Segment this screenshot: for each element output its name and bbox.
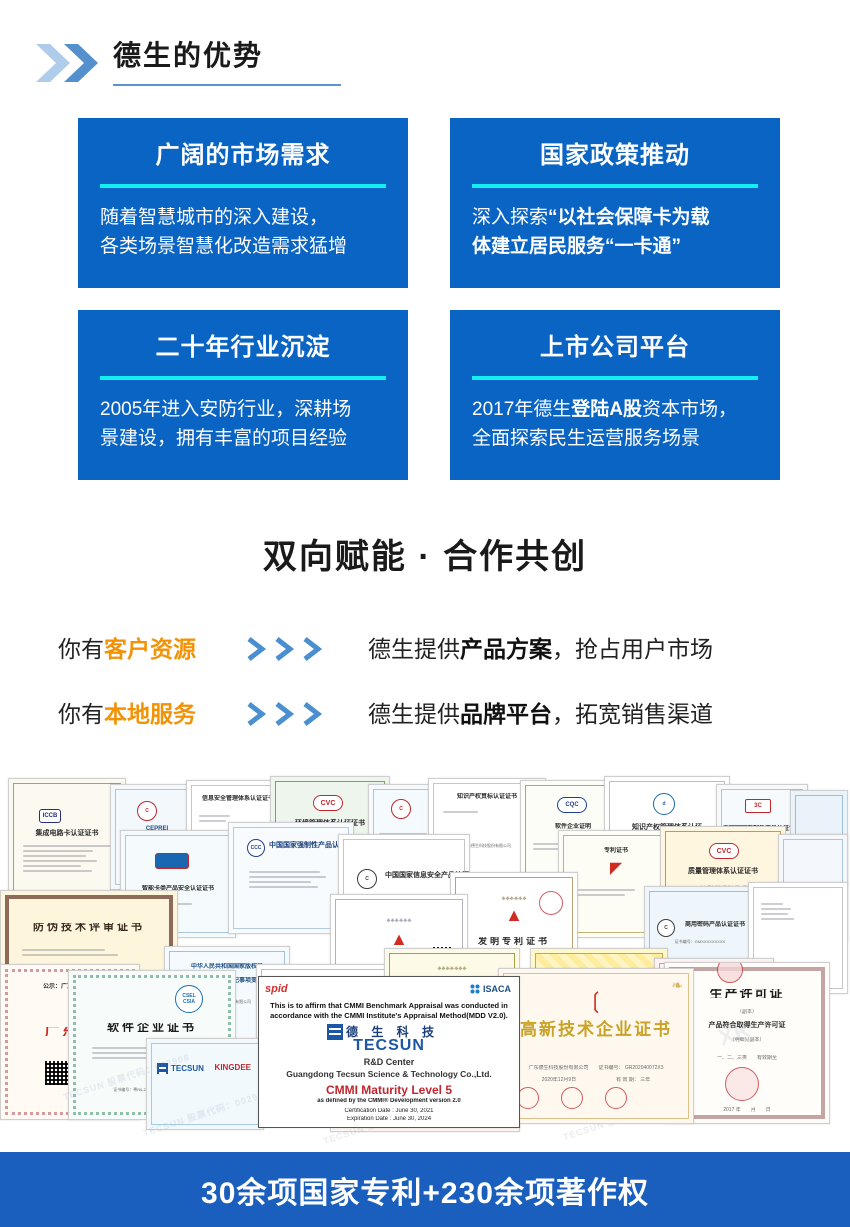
certificate-title: 质量管理体系认证证书 bbox=[661, 867, 785, 876]
row-left-highlight: 本地服务 bbox=[104, 701, 196, 727]
isaca-label: ISACA bbox=[483, 984, 511, 994]
cmmi-cert-date: Certification Date : June 30, 2021 bbox=[259, 1108, 519, 1114]
advantage-card-twenty-years: 二十年行业沉淀 2005年进入安防行业，深耕场景建设，拥有丰富的项目经验 bbox=[78, 310, 408, 480]
row-left-text: 你有客户资源 bbox=[58, 632, 196, 666]
tecsun-wordmark: TECSUN bbox=[171, 1064, 204, 1073]
certificate-title: 集成电路卡认证证书 bbox=[9, 829, 125, 838]
cmmi-company-en: Guangdong Tecsun Science & Technology Co… bbox=[259, 1069, 519, 1079]
cmmi-affirm-line-2: accordance with the CMMI Institute's App… bbox=[259, 1011, 519, 1020]
csel-csia-badge-icon: CSELCSIA bbox=[175, 985, 203, 1013]
red-stamp-icon bbox=[561, 1087, 583, 1109]
row-left-prefix: 你有 bbox=[58, 701, 104, 727]
triple-chevron-icon bbox=[244, 700, 326, 728]
certificate-title: 高新技术企业证书 bbox=[499, 1021, 693, 1039]
certificate-title: 发明专利证书 bbox=[451, 937, 577, 946]
qr-code-icon bbox=[45, 1061, 69, 1085]
high-tech-flame-icon: ❲ bbox=[499, 993, 693, 1009]
high-tech-enterprise-certificate: ❧ ❧ ❲ 高新技术企业证书 广东德生科技股份有限公司 证书编号： GR2020… bbox=[498, 968, 694, 1124]
tecsun-logo: TECSUN bbox=[157, 1063, 204, 1074]
row-left-text: 你有本地服务 bbox=[58, 697, 196, 731]
certificate-subtitle: 广东德生科技股份有限公司 证书编号： GR202040072X3 bbox=[499, 1065, 693, 1071]
certificate-card: ICCB 集成电路卡认证证书 bbox=[8, 778, 126, 906]
spid-logo: spid bbox=[265, 983, 288, 995]
cmmi-exp-date: Expiration Date : June 30, 2024 bbox=[259, 1116, 519, 1122]
kingdee-logo: KINGDEE bbox=[215, 1063, 251, 1072]
card-divider bbox=[100, 184, 386, 188]
cmmi-affirm-line-1: This is to affirm that CMMI Benchmark Ap… bbox=[259, 1001, 519, 1010]
card-title: 国家政策推动 bbox=[472, 140, 758, 172]
certificate-title: 防伪技术评审证书 bbox=[1, 923, 177, 932]
isaca-mark-icon bbox=[470, 984, 480, 994]
brand-badge-icon: d bbox=[653, 793, 675, 815]
certificate-title: 专利证书 bbox=[559, 847, 673, 856]
page-title: 德生的优势 bbox=[113, 38, 463, 74]
empowerment-row-customer-resource: 你有客户资源 德生提供产品方案，抢占用户市场 bbox=[0, 616, 850, 681]
title-underline bbox=[113, 84, 341, 86]
cqc-badge-icon: CQC bbox=[557, 797, 587, 813]
advantages-page: 德生的优势 广阔的市场需求 随着智慧城市的深入建设，各类场景智慧化改造需求猛增 … bbox=[0, 0, 850, 1227]
card-badge-icon bbox=[155, 853, 189, 869]
row-right-text: 德生提供产品方案，抢占用户市场 bbox=[368, 632, 713, 666]
cvc-badge-icon: CVC bbox=[313, 795, 343, 811]
advantage-card-market-demand: 广阔的市场需求 随着智慧城市的深入建设，各类场景智慧化改造需求猛增 bbox=[78, 118, 408, 288]
advantage-card-listed-company: 上市公司平台 2017年德生登陆A股资本市场，全面探索民生运营服务场景 bbox=[450, 310, 780, 480]
card-title: 广阔的市场需求 bbox=[100, 140, 386, 172]
card-body: 随着智慧城市的深入建设，各类场景智慧化改造需求猛增 bbox=[100, 203, 386, 261]
cqc-badge-icon: 3C bbox=[745, 799, 771, 813]
card-body: 2005年进入安防行业，深耕场景建设，拥有丰富的项目经验 bbox=[100, 395, 386, 453]
ceprei-badge-icon: C bbox=[137, 801, 157, 821]
page-title-text: 德生的优势 bbox=[113, 38, 463, 74]
patents-banner: 30余项国家专利+230余项著作权 bbox=[0, 1152, 850, 1227]
advantage-cards-grid: 广阔的市场需求 随着智慧城市的深入建设，各类场景智慧化改造需求猛增 国家政策推动… bbox=[0, 118, 850, 486]
card-divider bbox=[472, 184, 758, 188]
red-stamp-icon bbox=[539, 891, 563, 915]
card-body: 2017年德生登陆A股资本市场，全面探索民生运营服务场景 bbox=[472, 395, 758, 453]
cmmi-level: CMMI Maturity Level 5 bbox=[259, 1083, 519, 1097]
card-title: 上市公司平台 bbox=[472, 332, 758, 364]
advantage-card-national-policy: 国家政策推动 深入探索“以社会保障卡为载体建立居民服务“一卡通” bbox=[450, 118, 780, 288]
patent-emblem-icon: ▲ bbox=[331, 931, 467, 947]
card-divider bbox=[100, 376, 386, 380]
red-stamp-icon bbox=[605, 1087, 627, 1109]
patents-banner-text: 30余项国家专利+230余项著作权 bbox=[201, 1168, 649, 1212]
cvc-badge-icon: CVC bbox=[709, 843, 739, 859]
empowerment-row-local-service: 你有本地服务 德生提供品牌平台，拓宽销售渠道 bbox=[0, 681, 850, 746]
corner-ornament-icon: ❧ bbox=[671, 977, 683, 994]
cmmi-unit: R&D Center bbox=[259, 1057, 519, 1067]
certificate-title: ❈❈❈❈❈❈ bbox=[331, 917, 467, 926]
chevron-right-icon-dark bbox=[62, 42, 102, 84]
certificate-card: TECSUN KINGDEE bbox=[146, 1038, 264, 1130]
certificates-collage: ICCB 集成电路卡认证证书 C CEPREI AAAB 信息安全管理体系认证证… bbox=[0, 770, 850, 1150]
row-right-text: 德生提供品牌平台，拓宽销售渠道 bbox=[368, 697, 713, 731]
tecsun-mark-icon bbox=[157, 1063, 168, 1074]
certificate-subtitle: 证书编号：GMXXXXXXXXX bbox=[645, 939, 755, 945]
double-chevron-icon-group bbox=[34, 42, 110, 84]
card-body: 深入探索“以社会保障卡为载体建立居民服务“一卡通” bbox=[472, 203, 758, 261]
certificate-title: 商用密码产品认证证书 bbox=[661, 921, 756, 930]
certificate-title: 软件企业证书 bbox=[69, 1023, 235, 1032]
empowerment-rows: 你有客户资源 德生提供产品方案，抢占用户市场 你有本地服务 bbox=[0, 616, 850, 746]
isaca-logo-group: ISACA bbox=[470, 984, 511, 994]
empowerment-title: 双向赋能 · 合作共创 bbox=[0, 534, 850, 580]
cmmi-certificate: spid ISACA This is to affirm that CMMI B… bbox=[258, 976, 520, 1128]
row-left-highlight: 客户资源 bbox=[104, 636, 196, 662]
tecsun-wordmark: TECSUN bbox=[259, 1037, 519, 1055]
row-left-prefix: 你有 bbox=[58, 636, 104, 662]
red-stamp-icon bbox=[517, 1087, 539, 1109]
triple-chevron-icon bbox=[244, 635, 326, 663]
cmmi-defined-by: as defined by the CMMI® Development vers… bbox=[259, 1098, 519, 1104]
red-official-stamp-icon bbox=[725, 1067, 759, 1101]
iccb-badge-icon: ICCB bbox=[39, 809, 61, 823]
card-divider bbox=[472, 376, 758, 380]
ceprei-badge-icon: C bbox=[391, 799, 411, 819]
section-header: 德生的优势 bbox=[0, 0, 850, 108]
card-title: 二十年行业沉淀 bbox=[100, 332, 386, 364]
empowerment-section: 双向赋能 · 合作共创 你有客户资源 德生提供产品方案，抢占用户市场 你有本地服… bbox=[0, 528, 850, 768]
certificate-subtitle: 2020年12月9日 有 效 期： 三年 bbox=[499, 1077, 693, 1083]
